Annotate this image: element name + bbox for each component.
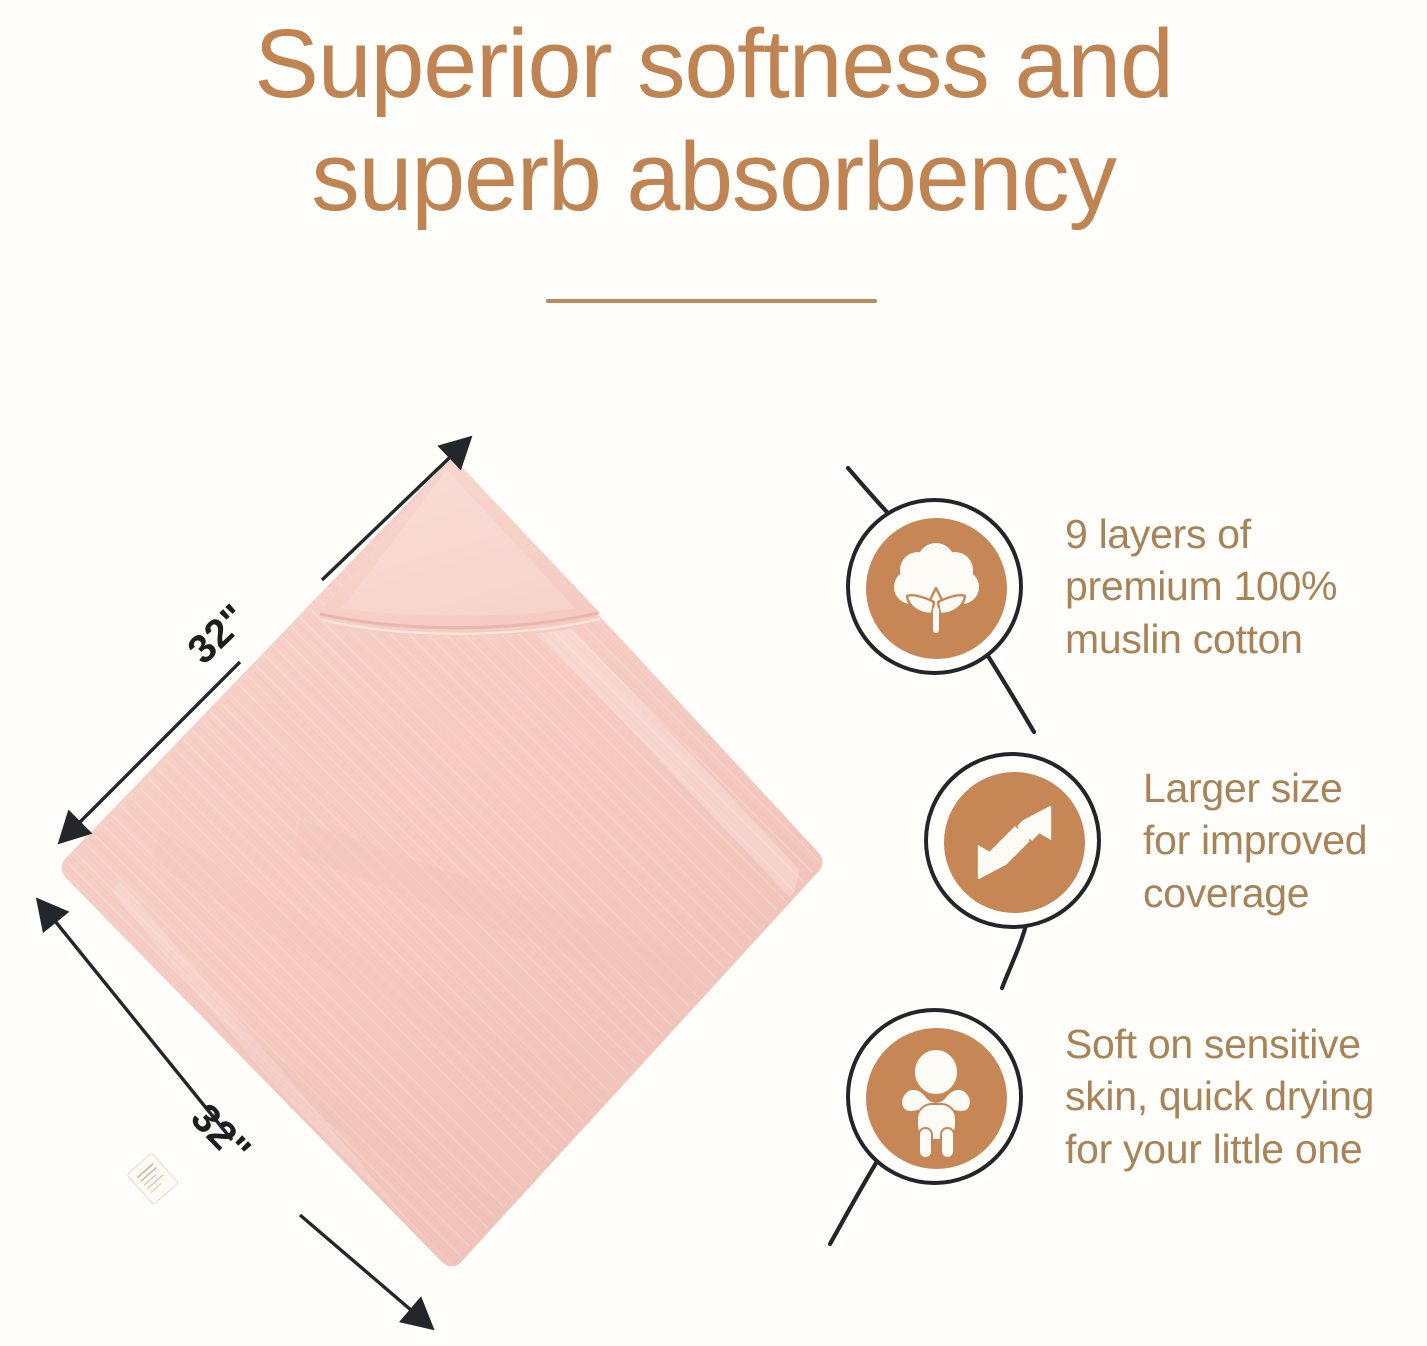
resize-arrows-icon — [944, 772, 1085, 913]
badge-fill-1 — [866, 518, 1007, 659]
feature-item-cotton[interactable]: 9 layers of premium 100% muslin cotton — [846, 498, 1337, 675]
badge-fill-3 — [866, 1028, 1007, 1169]
baby-icon — [866, 1028, 1007, 1169]
feature-badge-1 — [846, 498, 1023, 675]
feature-label-1: 9 layers of premium 100% muslin cotton — [1065, 508, 1337, 665]
badge-fill-2 — [944, 772, 1085, 913]
feature-badge-3 — [846, 1008, 1023, 1185]
feature-label-2: Larger size for improved coverage — [1143, 762, 1367, 919]
brand-tag — [127, 1153, 178, 1205]
feature-badge-2 — [924, 752, 1101, 929]
product-image-block: 32" 32" — [0, 400, 830, 1346]
feature-label-3: Soft on sensitive skin, quick drying for… — [1065, 1018, 1374, 1175]
title-divider — [546, 299, 877, 303]
infographic-canvas: Superior softness and superb absorbency — [0, 0, 1427, 1346]
cotton-boll-icon — [866, 518, 1007, 659]
feature-item-size[interactable]: Larger size for improved coverage — [924, 752, 1367, 929]
page-title: Superior softness and superb absorbency — [0, 8, 1427, 233]
feature-item-soft[interactable]: Soft on sensitive skin, quick drying for… — [846, 1008, 1374, 1185]
hooded-towel-illustration — [0, 400, 830, 1346]
feature-list: 9 layers of premium 100% muslin cotton — [812, 440, 1427, 1300]
